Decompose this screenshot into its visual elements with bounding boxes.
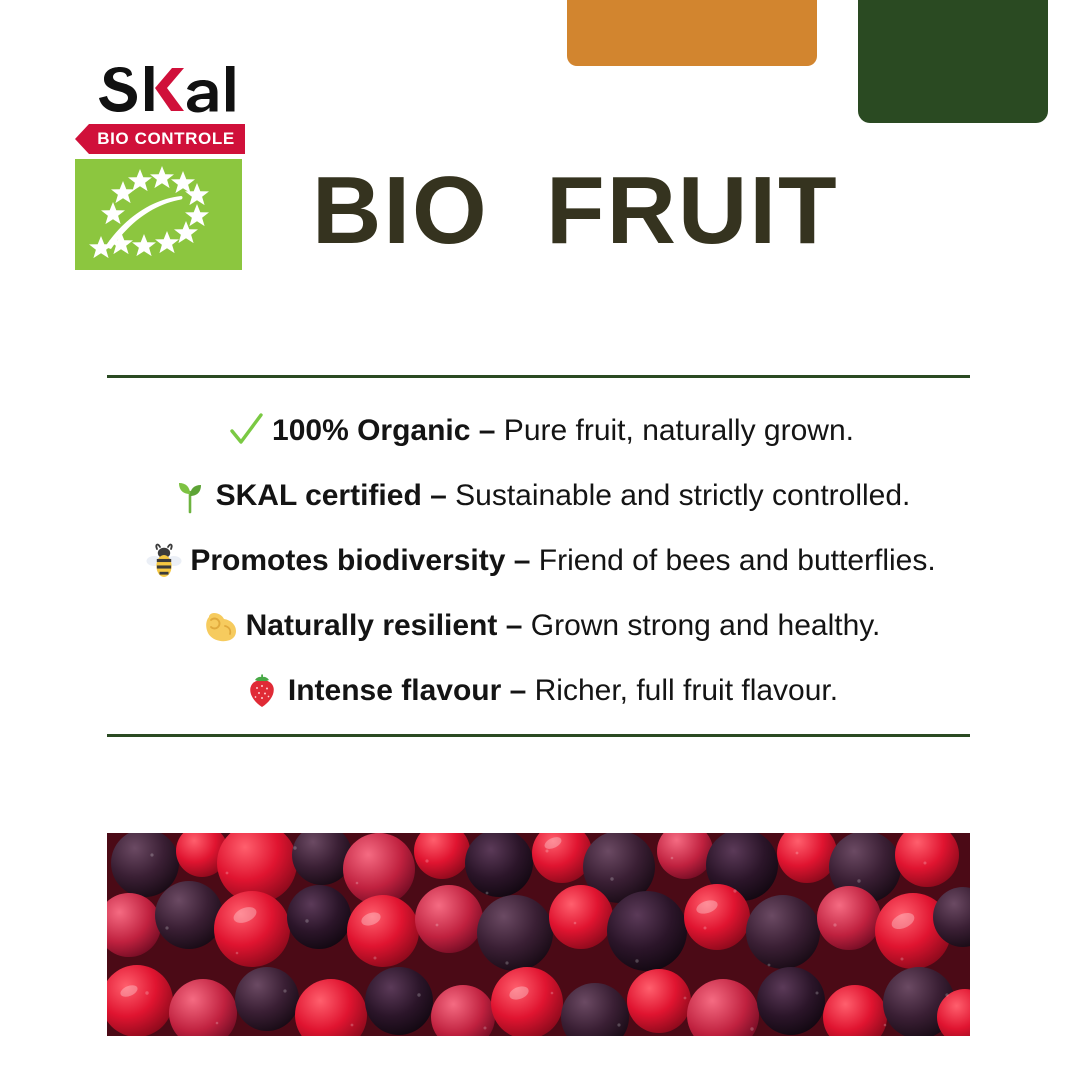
feature-item: 100% Organic – Pure fruit, naturally gro…: [226, 398, 854, 463]
strawberry-icon: [242, 671, 282, 711]
feature-item: Intense flavour – Richer, full fruit fla…: [242, 658, 838, 723]
bio-controle-label: BIO CONTROLE: [85, 129, 235, 149]
feature-description: Sustainable and strictly controlled.: [447, 479, 911, 512]
page-title: BIO FRUIT: [312, 163, 839, 259]
feature-title: Naturally resilient –: [246, 609, 523, 642]
skal-wordmark: [99, 66, 255, 120]
feature-title: Promotes biodiversity –: [190, 544, 530, 577]
feature-item: SKAL certified – Sustainable and strictl…: [170, 463, 911, 528]
feature-title: SKAL certified –: [216, 479, 447, 512]
decor-block-green: [858, 0, 1048, 123]
feature-description: Grown strong and healthy.: [522, 609, 880, 642]
check-mark-icon: [226, 411, 266, 451]
skal-logo: BIO CONTROLE: [75, 66, 255, 270]
feature-description: Friend of bees and butterflies.: [530, 544, 935, 577]
feature-list: 100% Organic – Pure fruit, naturally gro…: [0, 398, 1080, 723]
feature-description: Richer, full fruit flavour.: [526, 674, 838, 707]
decor-block-orange: [567, 0, 817, 66]
eu-organic-leaf-icon: [75, 159, 242, 270]
bio-controle-banner: BIO CONTROLE: [75, 124, 245, 154]
feature-description: Pure fruit, naturally grown.: [495, 414, 854, 447]
feature-title: Intense flavour –: [288, 674, 526, 707]
berries-photo: [107, 833, 970, 1036]
feature-item: Promotes biodiversity – Friend of bees a…: [144, 528, 935, 593]
feature-text: SKAL certified – Sustainable and strictl…: [216, 479, 911, 513]
divider-top: [107, 375, 970, 378]
flexed-biceps-icon: [200, 606, 240, 646]
feature-title: 100% Organic –: [272, 414, 495, 447]
feature-text: Naturally resilient – Grown strong and h…: [246, 609, 881, 643]
feature-item: Naturally resilient – Grown strong and h…: [200, 593, 881, 658]
feature-text: Promotes biodiversity – Friend of bees a…: [190, 544, 935, 578]
honeybee-icon: [144, 541, 184, 581]
feature-text: Intense flavour – Richer, full fruit fla…: [288, 674, 838, 708]
divider-bottom: [107, 734, 970, 737]
seedling-icon: [170, 476, 210, 516]
feature-text: 100% Organic – Pure fruit, naturally gro…: [272, 414, 854, 448]
